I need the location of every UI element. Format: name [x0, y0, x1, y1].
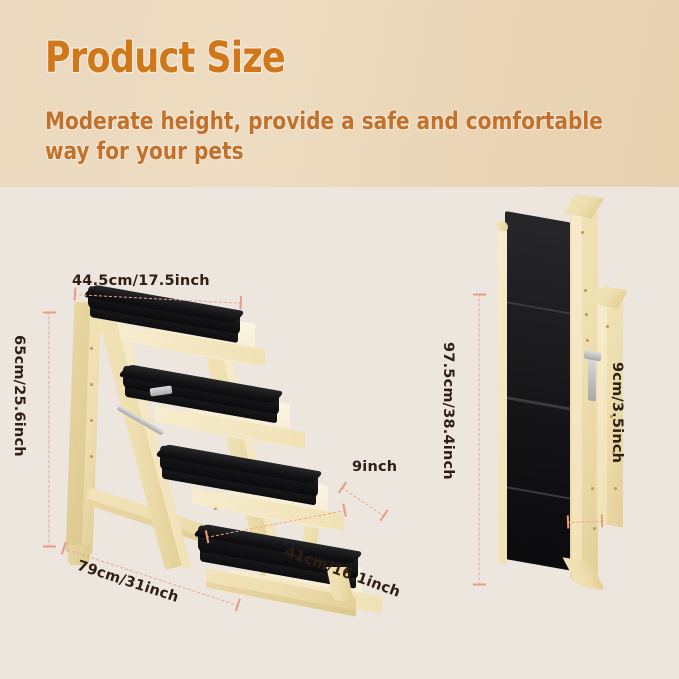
folded-main-rail-top-bevel [564, 194, 605, 219]
dimension-line-folded-height [474, 294, 487, 586]
dimension-label-top-width: 44.5cm/17.5inch [72, 273, 210, 289]
dimension-label-folded-height: 97.5cm/38.4inch [440, 342, 456, 480]
folded-second-rail-highlight [598, 294, 607, 526]
screw [593, 527, 596, 530]
screw [591, 487, 594, 490]
folded-pad-stack [505, 211, 573, 571]
dimension-cap-end [44, 546, 57, 548]
screw [585, 313, 588, 316]
product-illustration-area: 44.5cm/17.5inch 65cm/25.6inch 79cm/31inc… [0, 187, 679, 679]
dimension-bar [49, 312, 50, 548]
folded-main-rail-foot [562, 557, 605, 591]
dimension-line-total-height [44, 312, 57, 548]
folded-left-edge [498, 224, 507, 564]
infographic-root: Product Size Moderate height, provide a … [0, 0, 679, 679]
screw [90, 455, 93, 458]
dimension-bar [479, 294, 480, 586]
screw [90, 419, 93, 422]
dimension-line-folded-thickness [567, 514, 603, 528]
screw [614, 487, 617, 490]
dimension-label-total-height: 65cm/25.6inch [11, 335, 27, 457]
dimension-cap-end [474, 584, 487, 586]
screw [586, 339, 589, 342]
screw [606, 325, 609, 328]
screw [581, 231, 584, 234]
dimension-label-folded-thickness: 9cm/3.5inch [609, 362, 625, 463]
dimension-cap-end [601, 514, 603, 527]
screw [90, 383, 93, 386]
screw [584, 289, 587, 292]
header-banner: Product Size Moderate height, provide a … [0, 0, 679, 187]
page-subtitle: Moderate height, provide a safe and comf… [45, 106, 603, 166]
screw [90, 347, 93, 350]
dimension-bar [567, 520, 603, 522]
dimension-cap-start [567, 515, 569, 528]
page-title: Product Size [45, 37, 285, 80]
folded-latch [588, 354, 596, 401]
dimension-cap-start [44, 312, 57, 314]
dimension-label-step-depth: 9inch [352, 459, 397, 475]
dimension-cap-start [474, 294, 487, 296]
